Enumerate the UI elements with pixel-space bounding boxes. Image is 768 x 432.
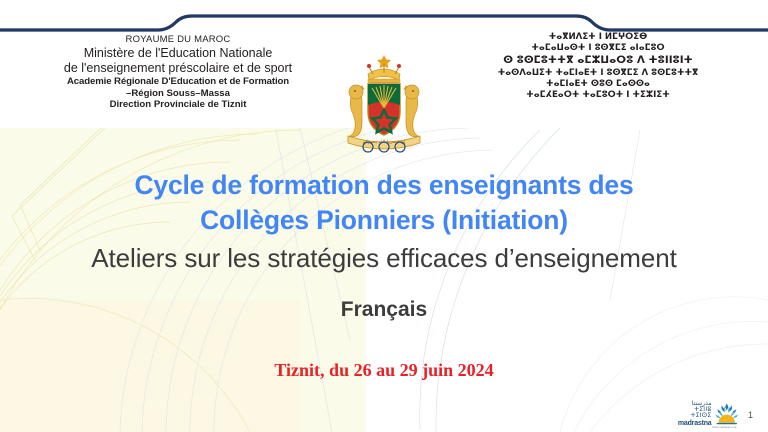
- event-date: Tiznit, du 26 au 29 juin 2024: [0, 360, 768, 381]
- header-fr-line-5: –Région Souss–Massa: [18, 88, 338, 100]
- title-subtitle: Ateliers sur les stratégies efficaces d’…: [0, 241, 768, 276]
- header-tif-line-4: ⵜⴰⵙⴷⴰⵡⵉⵜ ⵜⴰⵎⵏⴰⴹⵜ ⵏ ⵓⵙⴳⵎⵉ ⴷ ⵓⵙⵎⵓⵜⵜⴳ: [438, 68, 758, 79]
- page-number: 1: [748, 410, 753, 420]
- header-french-block: ROYAUME DU MAROC Ministère de l'Educatio…: [18, 34, 338, 111]
- madrastna-logo: مدرستنا ⵜⵉⵏⵏⵓ ⵜⵉⵏⵙⵉ madrastna: [672, 400, 740, 428]
- madrastna-logo-tifinagh: ⵜⵉⵏⵏⵓ ⵜⵉⵏⵙⵉ: [672, 407, 711, 420]
- decorative-dots: [0, 140, 768, 159]
- madrastna-logo-text: مدرستنا ⵜⵉⵏⵏⵓ ⵜⵉⵏⵙⵉ madrastna: [672, 401, 711, 427]
- header-fr-line-6: Direction Provinciale de Tiznit: [18, 99, 338, 111]
- slide-header: ROYAUME DU MAROC Ministère de l'Educatio…: [0, 30, 768, 130]
- header-fr-line-2: Ministère de l'Education Nationale: [18, 46, 338, 61]
- madrastna-logo-url: www.madrastna.ma: [712, 426, 736, 429]
- madrastna-sun-logo-icon: [714, 402, 740, 426]
- header-tif-line-5: ⵜⴰⵎⵏⴰⴹⵜ ⵙⵓⵙ ⵎⴰⵙⵙⴰ: [438, 79, 758, 90]
- title-block: Cycle de formation des enseignants des C…: [0, 168, 768, 277]
- header-fr-line-3: de l'enseignement préscolaire et de spor…: [18, 61, 338, 76]
- title-line-2: Collèges Pionniers (Initiation): [0, 203, 768, 238]
- madrastna-logo-latin: madrastna: [672, 420, 711, 427]
- header-tif-line-2: ⵜⴰⵎⴰⵡⴰⵙⵜ ⵏ ⵓⵙⴳⵎⵉ ⴰⵏⴰⵎⵓⵔ: [438, 43, 758, 54]
- header-tif-line-6: ⵜⴰⵎⵃⴹⴰⵔⵜ ⵜⴰⵎⵓⵔⵜ ⵏ ⵜⵉⵣⵏⵉⵜ: [438, 90, 758, 101]
- header-tifinagh-block: ⵜⴰⴳⵍⴷⵉⵜ ⵏ ⵍⵎⵖⵔⵉⴱ ⵜⴰⵎⴰⵡⴰⵙⵜ ⵏ ⵓⵙⴳⵎⵉ ⴰⵏⴰⵎⵓⵔ…: [438, 32, 758, 101]
- header-tif-line-3: ⵙ ⵓⵙⵎⵓⵜⵜⴳ ⴰⵎⵣⵡⴰⵔⵓ ⴷ ⵜⵓⵏⵏⵓⵏⵜ: [438, 54, 758, 68]
- header-fr-line-1: ROYAUME DU MAROC: [18, 34, 338, 46]
- presentation-slide: ROYAUME DU MAROC Ministère de l'Educatio…: [0, 0, 768, 432]
- header-tif-line-1: ⵜⴰⴳⵍⴷⵉⵜ ⵏ ⵍⵎⵖⵔⵉⴱ: [438, 32, 758, 43]
- title-line-1: Cycle de formation des enseignants des: [0, 168, 768, 203]
- subject-label: Français: [0, 298, 768, 322]
- header-fr-line-4: Academie Régionale D'Education et de For…: [18, 76, 338, 88]
